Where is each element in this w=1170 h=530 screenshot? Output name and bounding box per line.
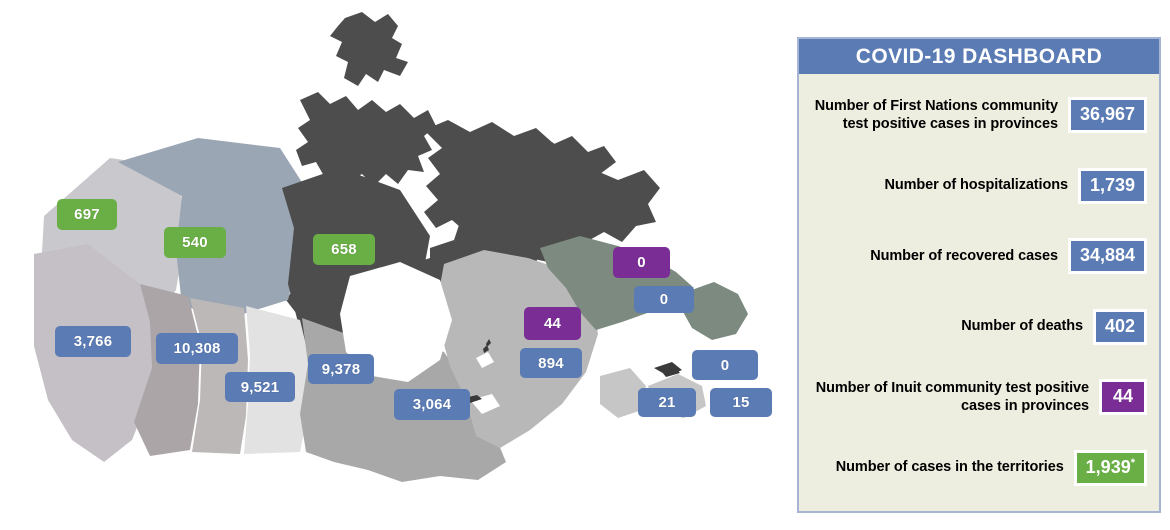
dashboard-row-value-number: 1,939 <box>1086 457 1131 477</box>
covid-dashboard-panel: COVID-19 DASHBOARD Number of First Natio… <box>797 37 1161 513</box>
dashboard-row-value: 34,884 <box>1068 238 1147 274</box>
newfoundland-cases: 0 <box>692 350 758 380</box>
quebec-inuit-cases: 44 <box>524 307 581 340</box>
alberta-cases: 10,308 <box>156 333 238 364</box>
dashboard-row-label: Number of First Nations community test p… <box>811 97 1058 134</box>
manitoba-cases: 9,378 <box>308 354 374 384</box>
dashboard-row-value: 402 <box>1093 309 1147 345</box>
dashboard-row-label: Number of recovered cases <box>811 247 1058 266</box>
dashboard-row-value: 1,739 <box>1078 168 1147 204</box>
canada-map-region: 69754065800443,76610,3089,37889409,5213,… <box>0 0 790 530</box>
dashboard-row: Number of hospitalizations1,739 <box>811 151 1147 222</box>
northwest-territories-cases: 540 <box>164 227 226 258</box>
dashboard-row-value: 1,939* <box>1074 450 1147 486</box>
british-columbia-cases: 3,766 <box>55 326 131 357</box>
saskatchewan-cases: 9,521 <box>225 372 295 402</box>
dashboard-row: Number of deaths402 <box>811 292 1147 363</box>
dashboard-row-value: 36,967 <box>1068 97 1147 133</box>
new-brunswick-cases: 21 <box>638 388 696 417</box>
nunavik-inuit-cases: 0 <box>613 247 670 278</box>
dashboard-row-label: Number of cases in the territories <box>811 458 1064 477</box>
nunavik-cases: 0 <box>634 286 694 313</box>
ontario-cases: 3,064 <box>394 389 470 420</box>
nunavut-cases: 658 <box>313 234 375 265</box>
dashboard-row-label: Number of hospitalizations <box>811 176 1068 195</box>
quebec-cases: 894 <box>520 348 582 378</box>
yukon-territory-cases: 697 <box>57 199 117 230</box>
dashboard-row-footnote-marker: * <box>1131 457 1135 469</box>
dashboard-stat-rows: Number of First Nations community test p… <box>799 74 1159 511</box>
dashboard-row-label: Number of Inuit community test positive … <box>811 379 1089 416</box>
dashboard-row: Number of Inuit community test positive … <box>811 362 1147 433</box>
nova-scotia-cases: 15 <box>710 388 772 417</box>
dashboard-title: COVID-19 DASHBOARD <box>799 39 1159 74</box>
dashboard-row: Number of First Nations community test p… <box>811 80 1147 151</box>
dashboard-row-label: Number of deaths <box>811 317 1083 336</box>
dashboard-row: Number of cases in the territories1,939* <box>811 433 1147 504</box>
dashboard-row: Number of recovered cases34,884 <box>811 221 1147 292</box>
dashboard-row-value: 44 <box>1099 379 1147 415</box>
canada-map-svg <box>0 0 790 530</box>
